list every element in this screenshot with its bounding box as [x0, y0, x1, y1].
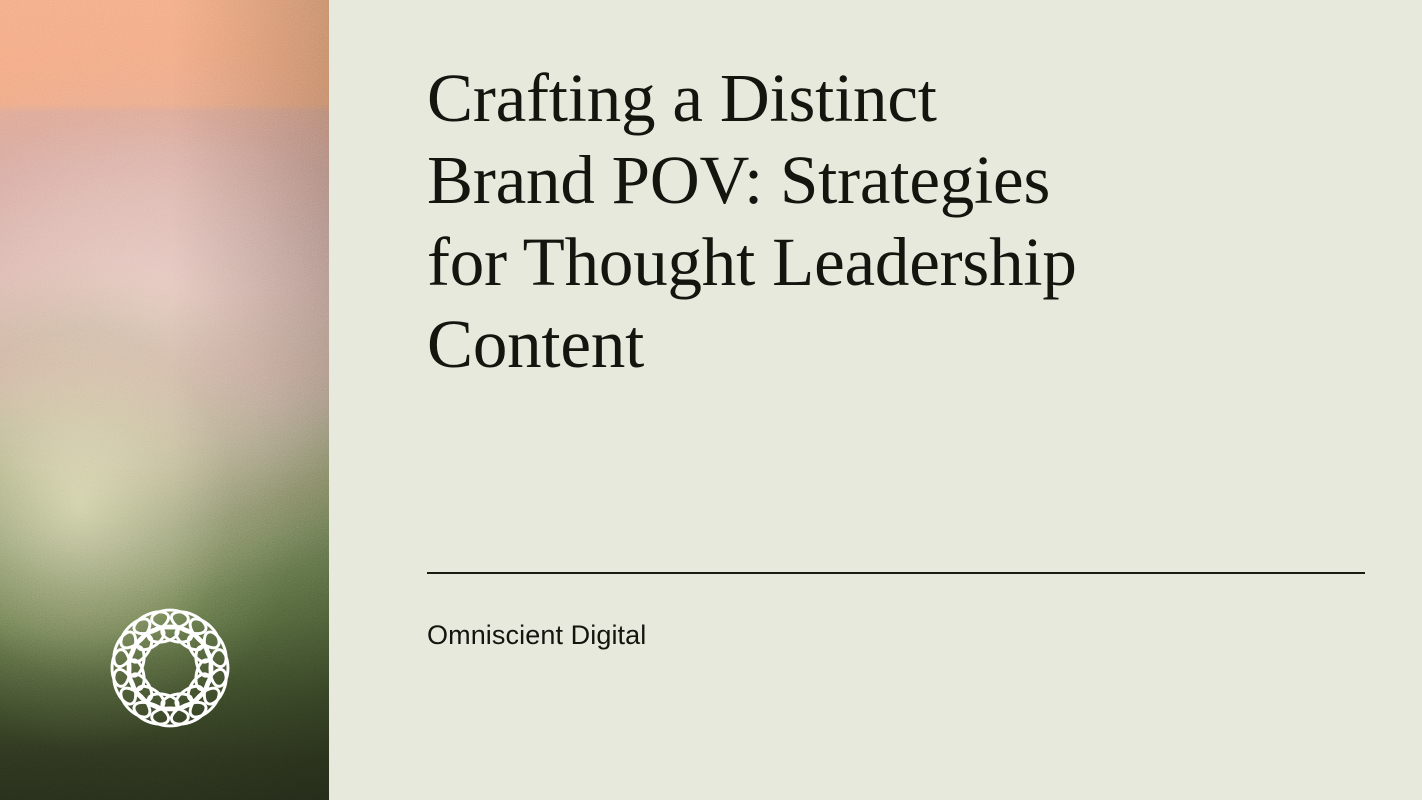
omniscient-logo-icon [98, 596, 242, 740]
content-area: Crafting a Distinct Brand POV: Strategie… [329, 0, 1422, 800]
divider [427, 572, 1365, 574]
page-title: Crafting a Distinct Brand POV: Strategie… [427, 57, 1377, 385]
brand-byline: Omniscient Digital [427, 618, 646, 652]
title-slide: Crafting a Distinct Brand POV: Strategie… [0, 0, 1422, 800]
gradient-art-panel [0, 0, 329, 800]
